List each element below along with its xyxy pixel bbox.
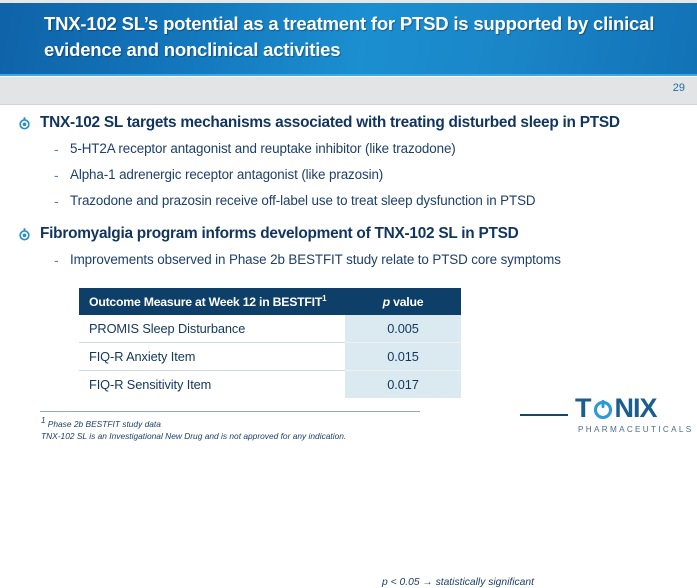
dash-marker-icon: - [54, 193, 70, 210]
header-subbar [0, 77, 697, 105]
footnote-line-1: 1 Phase 2b BESTFIT study data [41, 415, 461, 430]
bullet-label: TNX-102 SL targets mechanisms associated… [40, 113, 620, 132]
sub-bullet-item: - Trazodone and prazosin receive off-lab… [54, 193, 697, 210]
cell-pvalue: 0.015 [345, 343, 461, 371]
sub-bullet-label: Improvements observed in Phase 2b BESTFI… [70, 252, 561, 268]
footnote-line-2: TNX-102 SL is an Investigational New Dru… [41, 430, 461, 443]
stopwatch-icon [18, 117, 31, 130]
table-row: FIQ-R Anxiety Item 0.015 [79, 343, 461, 371]
power-symbol-icon [592, 398, 614, 420]
sub-bullet-label: Alpha-1 adrenergic receptor antagonist (… [70, 167, 383, 183]
bullet-item-primary: Fibromyalgia program informs development… [18, 224, 697, 243]
stopwatch-icon [18, 228, 31, 241]
cell-outcome: PROMIS Sleep Disturbance [79, 315, 345, 343]
column-header-outcome: Outcome Measure at Week 12 in BESTFIT1 [79, 288, 345, 315]
logo-tagline: PHARMACEUTICALS [578, 425, 693, 434]
logo-rule [520, 414, 568, 416]
bullet-item-primary: TNX-102 SL targets mechanisms associated… [18, 113, 697, 132]
cell-outcome: FIQ-R Sensitivity Item [79, 371, 345, 399]
cell-pvalue: 0.005 [345, 315, 461, 343]
slide-header-band: TNX-102 SL’s potential as a treatment fo… [0, 3, 697, 76]
sub-bullet-item: - 5-HT2A receptor antagonist and reuptak… [54, 141, 697, 158]
footnote-block: 1 Phase 2b BESTFIT study data TNX-102 SL… [41, 415, 461, 443]
sub-bullet-label: 5-HT2A receptor antagonist and reuptake … [70, 141, 456, 157]
column-header-pvalue: p value [345, 288, 461, 315]
logo-letters-nix: NIX [615, 395, 657, 422]
results-table-container: Outcome Measure at Week 12 in BESTFIT1 p… [79, 288, 461, 398]
dash-marker-icon: - [54, 141, 70, 158]
logo-wordmark: T NIX [575, 395, 657, 422]
column-header-pvalue-symbol: p [383, 295, 390, 309]
sub-bullet-label: Trazodone and prazosin receive off-label… [70, 193, 536, 209]
bullet-label: Fibromyalgia program informs development… [40, 224, 519, 243]
table-header-row: Outcome Measure at Week 12 in BESTFIT1 p… [79, 288, 461, 315]
company-logo: T NIX PHARMACEUTICALS [520, 392, 690, 444]
sub-bullet-item: - Improvements observed in Phase 2b BEST… [54, 252, 697, 269]
page-title: TNX-102 SL’s potential as a treatment fo… [44, 11, 673, 64]
page-number: 29 [673, 82, 685, 94]
column-header-outcome-label: Outcome Measure at Week 12 in BESTFIT [89, 295, 322, 309]
cell-pvalue: 0.017 [345, 371, 461, 399]
table-row: PROMIS Sleep Disturbance 0.005 [79, 315, 461, 343]
dash-marker-icon: - [54, 167, 70, 184]
dash-marker-icon: - [54, 252, 70, 269]
column-header-pvalue-label: value [390, 295, 423, 309]
slide-root: TNX-102 SL’s potential as a treatment fo… [0, 0, 697, 451]
footnote-line-1-text: Phase 2b BESTFIT study data [45, 419, 160, 429]
footnote-marker: 1 [322, 294, 326, 303]
significance-note: p < 0.05 → statistically significant [158, 577, 540, 588]
sub-bullet-item: - Alpha-1 adrenergic receptor antagonist… [54, 167, 697, 184]
results-table: Outcome Measure at Week 12 in BESTFIT1 p… [79, 288, 461, 398]
table-row: FIQ-R Sensitivity Item 0.017 [79, 371, 461, 399]
footnote-divider [40, 411, 420, 412]
cell-outcome: FIQ-R Anxiety Item [79, 343, 345, 371]
logo-letter-t: T [575, 395, 591, 422]
slide-body: TNX-102 SL targets mechanisms associated… [0, 105, 697, 269]
